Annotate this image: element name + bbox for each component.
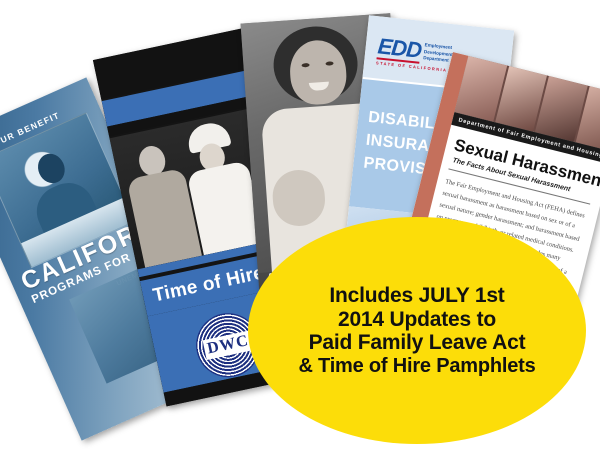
promo-burst-badge: Includes JULY 1st 2014 Updates to Paid F… <box>248 217 586 444</box>
edd-logo-mark: EDD <box>376 35 422 63</box>
burst-line-4: & Time of Hire Pamphlets <box>298 355 535 377</box>
burst-line-2: 2014 Updates to <box>338 308 496 332</box>
burst-line-3: Paid Family Leave Act <box>309 331 526 355</box>
photo-head-shape <box>33 150 69 188</box>
edd-logo-words: EmploymentDevelopmentDepartment <box>423 42 454 66</box>
burst-line-1: Includes JULY 1st <box>329 284 504 308</box>
dwc-logo-letters: DWC <box>203 330 254 360</box>
promo-image-canvas: FOR YOUR BENEFIT CALIFORNIA PROGRAMS FOR… <box>0 0 600 451</box>
